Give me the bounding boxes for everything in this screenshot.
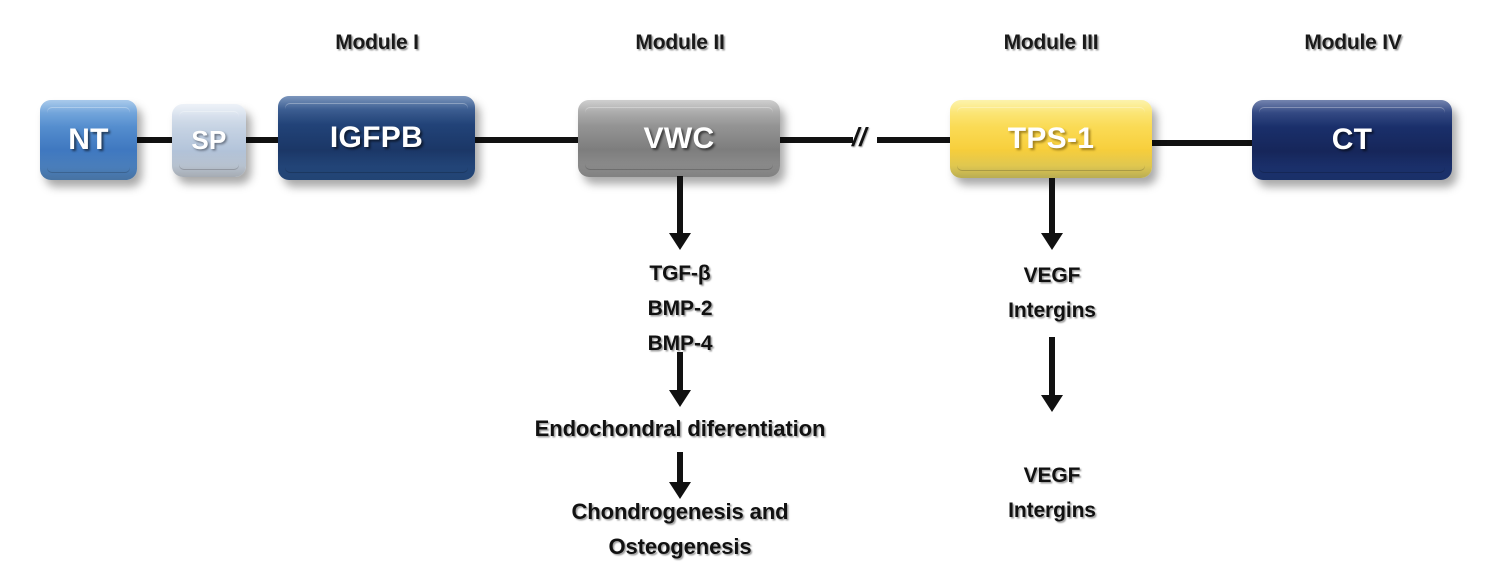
domain-box-ct[interactable]: CT <box>1252 100 1452 180</box>
arrow-shaft <box>1049 337 1055 397</box>
domain-box-label-ct: CT <box>1332 123 1373 157</box>
arrow-head <box>669 390 691 407</box>
domain-box-nt[interactable]: NT <box>40 100 137 180</box>
connector-nt-sp <box>137 137 174 143</box>
flow-text-line: TGF-β <box>648 256 713 291</box>
flow-text-vegf-intergins-2: VEGFIntergins <box>1008 458 1096 528</box>
arrow-growthfactors-to-endo <box>668 352 692 407</box>
flow-text-line: Intergins <box>1008 493 1096 528</box>
flow-text-line: VEGF <box>1008 258 1096 293</box>
connector-sp-igfpb <box>245 137 280 143</box>
connector-break-tps1 <box>877 137 952 143</box>
connector-tps1-ct <box>1150 140 1254 146</box>
arrow-shaft <box>677 352 683 392</box>
flow-text-vegf-intergins-1: VEGFIntergins <box>1008 258 1096 328</box>
flow-text-line: Osteogenesis <box>572 529 789 564</box>
domain-box-sp[interactable]: SP <box>172 104 246 177</box>
module-label-2: Module II <box>635 31 724 55</box>
arrow-head <box>669 233 691 250</box>
domain-box-tps1[interactable]: TPS-1 <box>950 100 1152 178</box>
arrow-vwc-to-growthfactors <box>668 176 692 250</box>
flow-text-growth-factors: TGF-βBMP-2BMP-4 <box>648 256 713 361</box>
arrow-shaft <box>677 176 683 235</box>
domain-box-vwc[interactable]: VWC <box>578 100 780 177</box>
sequence-break-marker: // <box>852 124 866 150</box>
flow-text-endochondral: Endochondral diferentiation <box>535 411 826 446</box>
flow-text-line: Endochondral diferentiation <box>535 411 826 446</box>
arrow-shaft <box>1049 178 1055 235</box>
domain-box-igfpb[interactable]: IGFPB <box>278 96 475 180</box>
flow-text-line: VEGF <box>1008 458 1096 493</box>
arrow-head <box>1041 233 1063 250</box>
diagram-canvas: Module IModule IIModule IIIModule IV // … <box>0 0 1500 585</box>
domain-box-label-sp: SP <box>191 125 226 156</box>
domain-box-label-vwc: VWC <box>644 122 715 156</box>
flow-text-line: Chondrogenesis and <box>572 494 789 529</box>
arrow-tps1-to-vegf1 <box>1040 178 1064 250</box>
arrow-vegf1-to-vegf2 <box>1040 337 1064 412</box>
arrow-head <box>1041 395 1063 412</box>
flow-text-chondro-osteo: Chondrogenesis andOsteogenesis <box>572 494 789 564</box>
arrow-head <box>669 482 691 499</box>
module-label-1: Module I <box>335 31 419 55</box>
flow-text-line: BMP-2 <box>648 291 713 326</box>
connector-vwc-break <box>778 137 853 143</box>
domain-box-label-nt: NT <box>68 123 109 157</box>
arrow-shaft <box>677 452 683 484</box>
domain-box-label-tps1: TPS-1 <box>1008 122 1095 156</box>
arrow-endo-to-chondro <box>668 452 692 499</box>
module-label-3: Module III <box>1004 31 1099 55</box>
module-label-4: Module IV <box>1304 31 1401 55</box>
flow-text-line: Intergins <box>1008 293 1096 328</box>
domain-box-label-igfpb: IGFPB <box>330 121 423 155</box>
connector-igfpb-vwc <box>473 137 580 143</box>
